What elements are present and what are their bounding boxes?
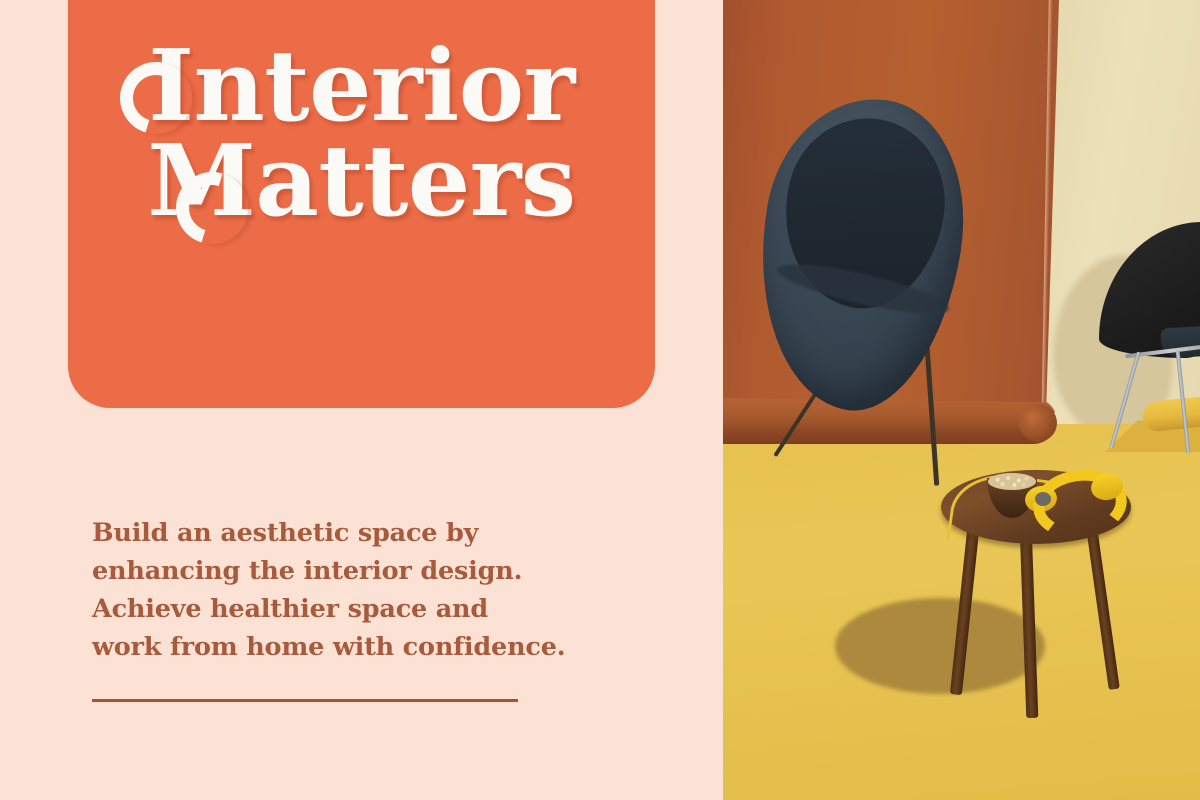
body-copy-line-4: work from home with confidence. [92,628,592,666]
chrome-chair-leg [1109,351,1140,448]
page-title: Interior Matters [68,40,655,228]
interior-styling-photo [723,0,1200,800]
poster-canvas: Interior Matters Build an aesthetic spac… [0,0,1200,800]
divider-rule [92,699,518,702]
navy-egg-lounge-chair [745,98,975,448]
headline-card: Interior Matters [68,0,655,408]
black-shell-chair [1089,222,1200,452]
headline-line-2: Matters [68,135,655,228]
body-copy-line-2: enhancing the interior design. [92,552,592,590]
body-copy-line-3: Achieve healthier space and [92,590,592,628]
paper-roll-end-cap [1019,404,1057,442]
body-copy: Build an aesthetic space by enhancing th… [92,514,592,666]
bowl-contents [988,473,1036,490]
table-floor-shadow [835,598,1045,694]
text-panel: Interior Matters Build an aesthetic spac… [0,0,723,800]
body-copy-line-1: Build an aesthetic space by [92,514,592,552]
headphone-ear-pad [1035,492,1051,506]
chrome-chair-leg [1176,350,1191,454]
